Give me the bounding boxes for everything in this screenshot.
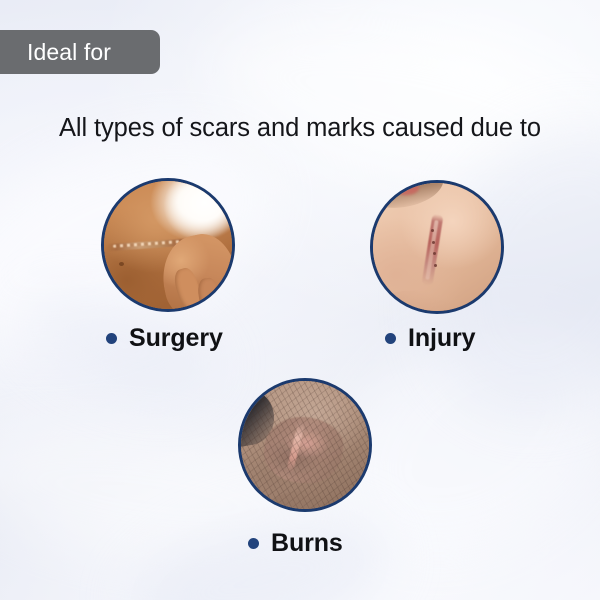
photo-surgery	[101, 178, 235, 312]
caption-label-injury: Injury	[408, 324, 475, 353]
skin-texture	[241, 381, 369, 509]
bullet-icon	[385, 333, 396, 344]
surgery-photo-image	[104, 181, 232, 309]
bullet-icon	[248, 538, 259, 549]
caption-surgery: Surgery	[106, 324, 223, 353]
poster-canvas: Ideal for All types of scars and marks c…	[0, 0, 600, 600]
burns-photo-image	[241, 381, 369, 509]
caption-label-burns: Burns	[271, 529, 343, 558]
caption-injury: Injury	[385, 324, 475, 353]
injury-photo-image	[373, 183, 501, 311]
stitch-mark	[432, 241, 435, 244]
photo-burns	[238, 378, 372, 512]
banner-label: Ideal for	[0, 39, 111, 66]
skin-mole	[119, 262, 124, 266]
ideal-for-banner: Ideal for	[0, 30, 160, 74]
lip-shape	[393, 180, 419, 194]
stitch-mark	[431, 229, 434, 232]
caption-burns: Burns	[248, 529, 343, 558]
photo-injury	[370, 180, 504, 314]
page-title: All types of scars and marks caused due …	[0, 114, 600, 143]
bullet-icon	[106, 333, 117, 344]
caption-label-surgery: Surgery	[129, 324, 223, 353]
